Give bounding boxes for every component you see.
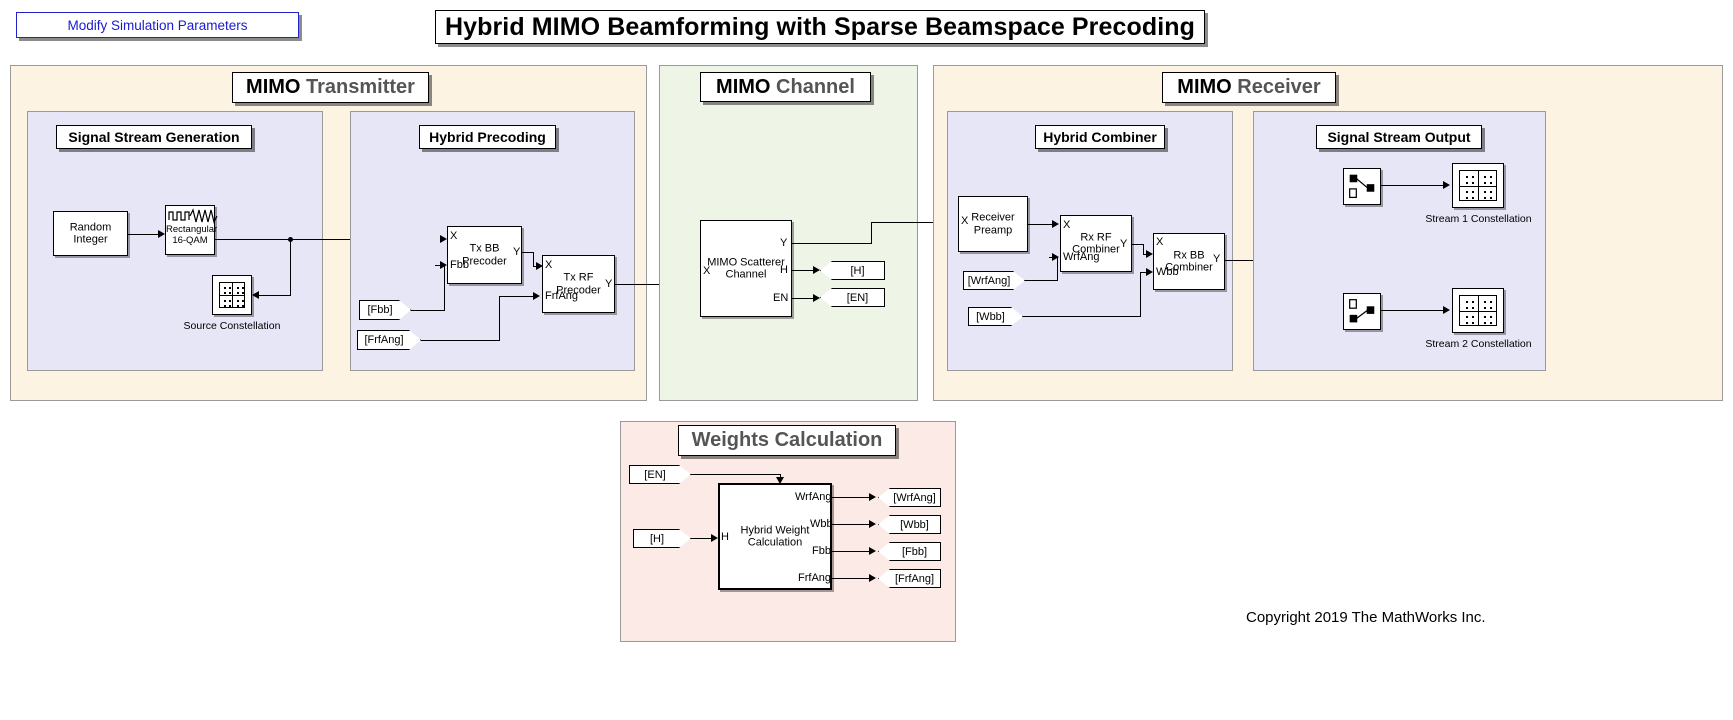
block-selector-2[interactable] <box>1343 293 1381 330</box>
arrow-txrf-frfang-in <box>533 292 540 300</box>
wire-frfang-v <box>499 296 500 341</box>
wire-weights-frfang <box>832 578 872 579</box>
hybrid-combiner-title-box: Hybrid Combiner <box>1035 125 1165 149</box>
tag-h-from-label: [H] <box>650 533 664 545</box>
signal-stream-output-label: Signal Stream Output <box>1327 129 1470 145</box>
port-rxrf-wrfang: WrfAng <box>1063 251 1099 263</box>
mimo-channel-title-box: MIMO Channel <box>700 72 871 102</box>
stream1-constellation-caption: Stream 1 Constellation <box>1410 213 1547 225</box>
wire-rxrf-out-v <box>1143 244 1144 254</box>
constellation-icon <box>1459 170 1497 201</box>
page-title: Hybrid MIMO Beamforming with Sparse Beam… <box>445 13 1195 42</box>
tag-wbb-from-label: [Wbb] <box>976 311 1005 323</box>
port-channel-h: H <box>780 264 788 276</box>
arrow-weights-h-in <box>711 534 718 542</box>
tag-fbb-from-label: [Fbb] <box>367 304 392 316</box>
mimo-receiver-title: MIMO Receiver <box>1177 76 1320 99</box>
tag-wrfang-goto-label: [WrfAng] <box>893 492 936 504</box>
port-txrf-frfang: FrfAng <box>545 290 578 302</box>
wire-weights-fbb <box>832 551 872 552</box>
tag-wrfang-from-label: [WrfAng] <box>968 275 1011 287</box>
arrow-rxbb-x-in <box>1146 250 1153 258</box>
wire-sel2-to-const2 <box>1381 310 1446 311</box>
wire-en-h <box>691 474 781 475</box>
tag-en-from[interactable]: [EN] <box>629 465 691 484</box>
port-channel-en: EN <box>773 292 788 304</box>
hybrid-precoding-title-box: Hybrid Precoding <box>419 125 556 149</box>
arrow-rxrf-wrfang-in <box>1052 253 1059 261</box>
mimo-transmitter-title-box: MIMO Transmitter <box>232 72 429 103</box>
block-rectangular-16qam[interactable]: Rectangular 16-QAM <box>165 205 215 255</box>
tag-frfang-from[interactable]: [FrfAng] <box>357 330 421 350</box>
tag-wbb-goto-label: [Wbb] <box>900 519 929 531</box>
port-channel-y: Y <box>780 237 787 249</box>
port-channel-x: X <box>703 265 710 277</box>
arrow-wrfang-goto-in <box>869 493 876 501</box>
tag-en-from-label: [EN] <box>644 469 665 481</box>
copyright-text: Copyright 2019 The MathWorks Inc. <box>1246 609 1486 626</box>
source-constellation-caption: Source Constellation <box>172 320 292 332</box>
mimo-channel-title: MIMO Channel <box>716 76 855 99</box>
tag-frfang-goto[interactable]: [FrfAng] <box>878 569 941 588</box>
port-weights-frfang: FrfAng <box>798 572 831 584</box>
block-receiver-preamp[interactable]: Receiver Preamp <box>958 196 1028 252</box>
selector-icon <box>1344 294 1380 329</box>
port-weights-fbb: Fbb <box>812 545 831 557</box>
arrow-wbb-goto-in <box>869 520 876 528</box>
arrow-h-goto-in <box>813 266 820 274</box>
wire-wbb-v <box>1140 272 1141 317</box>
block-selector-1[interactable] <box>1343 168 1381 205</box>
port-rxbb-x: X <box>1156 236 1163 248</box>
port-weights-h: H <box>721 531 729 543</box>
tag-h-from[interactable]: [H] <box>633 529 691 548</box>
weights-calculation-title: Weights Calculation <box>692 429 883 452</box>
signal-stream-output-title-box: Signal Stream Output <box>1316 125 1482 149</box>
block-receiver-preamp-label: Receiver Preamp <box>959 212 1027 237</box>
port-preamp-x: X <box>961 215 968 227</box>
constellation-icon <box>1459 295 1497 326</box>
port-txbb-fbb: Fbb <box>450 259 469 271</box>
constellation-icon <box>219 282 245 308</box>
port-txbb-y: Y <box>513 246 520 258</box>
tag-wrfang-from[interactable]: [WrfAng] <box>963 271 1025 290</box>
port-weights-wbb: Wbb <box>810 518 833 530</box>
arrow-qam-in <box>158 230 165 238</box>
wire-randint-to-qam <box>128 234 162 235</box>
tag-wrfang-goto[interactable]: [WrfAng] <box>878 488 941 507</box>
wire-channel-y-v <box>871 222 872 244</box>
block-mimo-scatterer-channel-label: MIMO Scatterer Channel <box>701 256 791 281</box>
arrow-txbb-fbb-in <box>440 261 447 269</box>
wire-qam-to-srcconst-h <box>258 295 291 296</box>
port-rxrf-x: X <box>1063 219 1070 231</box>
signal-stream-generation-label: Signal Stream Generation <box>68 129 239 145</box>
arrow-frfang-goto-in <box>869 574 876 582</box>
wire-sel1-to-const1 <box>1381 185 1446 186</box>
block-rectangular-16qam-label: Rectangular 16-QAM <box>166 224 214 246</box>
mimo-transmitter-title: MIMO Transmitter <box>246 76 415 99</box>
tag-h-goto-label: [H] <box>850 265 864 277</box>
block-stream2-constellation[interactable] <box>1452 288 1504 333</box>
selector-icon <box>1344 169 1380 204</box>
tag-frfang-from-label: [FrfAng] <box>364 334 403 346</box>
port-txrf-x: X <box>545 259 552 271</box>
block-random-integer-label: Random Integer <box>54 221 127 246</box>
modify-simulation-parameters-label: Modify Simulation Parameters <box>67 18 247 33</box>
port-rxrf-y: Y <box>1120 238 1127 250</box>
arrow-const2-in <box>1443 306 1450 314</box>
arrow-rxbb-wbb-in <box>1146 268 1153 276</box>
tag-en-goto-label: [EN] <box>847 292 868 304</box>
model-title-box: Hybrid MIMO Beamforming with Sparse Beam… <box>435 10 1205 44</box>
arrow-rxrf-x-in <box>1052 220 1059 228</box>
weights-calculation-title-box: Weights Calculation <box>678 425 896 456</box>
wire-wrfang-h1 <box>1025 280 1058 281</box>
block-tx-bb-precoder[interactable]: Tx BB Precoder <box>447 226 522 284</box>
arrow-txbb-x-in <box>440 235 447 243</box>
port-rxbb-wbb: Wbb <box>1156 266 1179 278</box>
wire-preamp-to-rxrf <box>1028 224 1055 225</box>
stream2-constellation-caption: Stream 2 Constellation <box>1410 338 1547 350</box>
wire-weights-wbb <box>832 524 872 525</box>
wire-frfang-h2 <box>499 296 535 297</box>
block-source-constellation[interactable] <box>212 275 252 315</box>
signal-stream-generation-title-box: Signal Stream Generation <box>56 125 252 149</box>
wire-fbb-h1 <box>411 310 445 311</box>
wire-fbb-v <box>444 265 445 311</box>
arrow-fbb-goto-in <box>869 547 876 555</box>
tag-en-goto[interactable]: [EN] <box>820 288 885 307</box>
hybrid-combiner-label: Hybrid Combiner <box>1043 129 1157 145</box>
tag-wbb-goto[interactable]: [Wbb] <box>878 515 941 534</box>
block-random-integer[interactable]: Random Integer <box>53 211 128 256</box>
qam-waveform-icon <box>168 208 218 224</box>
wire-frfang-h1 <box>421 340 500 341</box>
block-stream1-constellation[interactable] <box>1452 163 1504 208</box>
port-txrf-y: Y <box>605 278 612 290</box>
tag-frfang-goto-label: [FrfAng] <box>895 573 934 585</box>
wire-weights-wrfang <box>832 497 872 498</box>
mimo-receiver-title-box: MIMO Receiver <box>1162 72 1336 103</box>
arrow-en-goto-in <box>813 294 820 302</box>
modify-simulation-parameters-link[interactable]: Modify Simulation Parameters <box>16 12 299 38</box>
port-txbb-x: X <box>450 230 457 242</box>
wire-wbb-h1 <box>1023 316 1141 317</box>
wire-txrf-out <box>615 284 664 285</box>
arrow-const1-in <box>1443 181 1450 189</box>
wire-channel-y-h1 <box>792 243 872 244</box>
port-rxbb-y: Y <box>1213 253 1220 265</box>
port-weights-wrfang: WrfAng <box>795 491 831 503</box>
arrow-srcconst-in <box>252 291 259 299</box>
simulink-model-canvas: Modify Simulation Parameters Hybrid MIMO… <box>0 0 1733 720</box>
tag-fbb-goto-label: [Fbb] <box>902 546 927 558</box>
wire-wrfang-v <box>1057 257 1058 281</box>
hybrid-precoding-label: Hybrid Precoding <box>429 129 546 145</box>
tag-h-goto[interactable]: [H] <box>820 261 885 280</box>
wire-txbb-out-v <box>533 252 534 266</box>
wire-qam-to-srcconst-v <box>290 239 291 295</box>
tag-fbb-goto[interactable]: [Fbb] <box>878 542 941 561</box>
